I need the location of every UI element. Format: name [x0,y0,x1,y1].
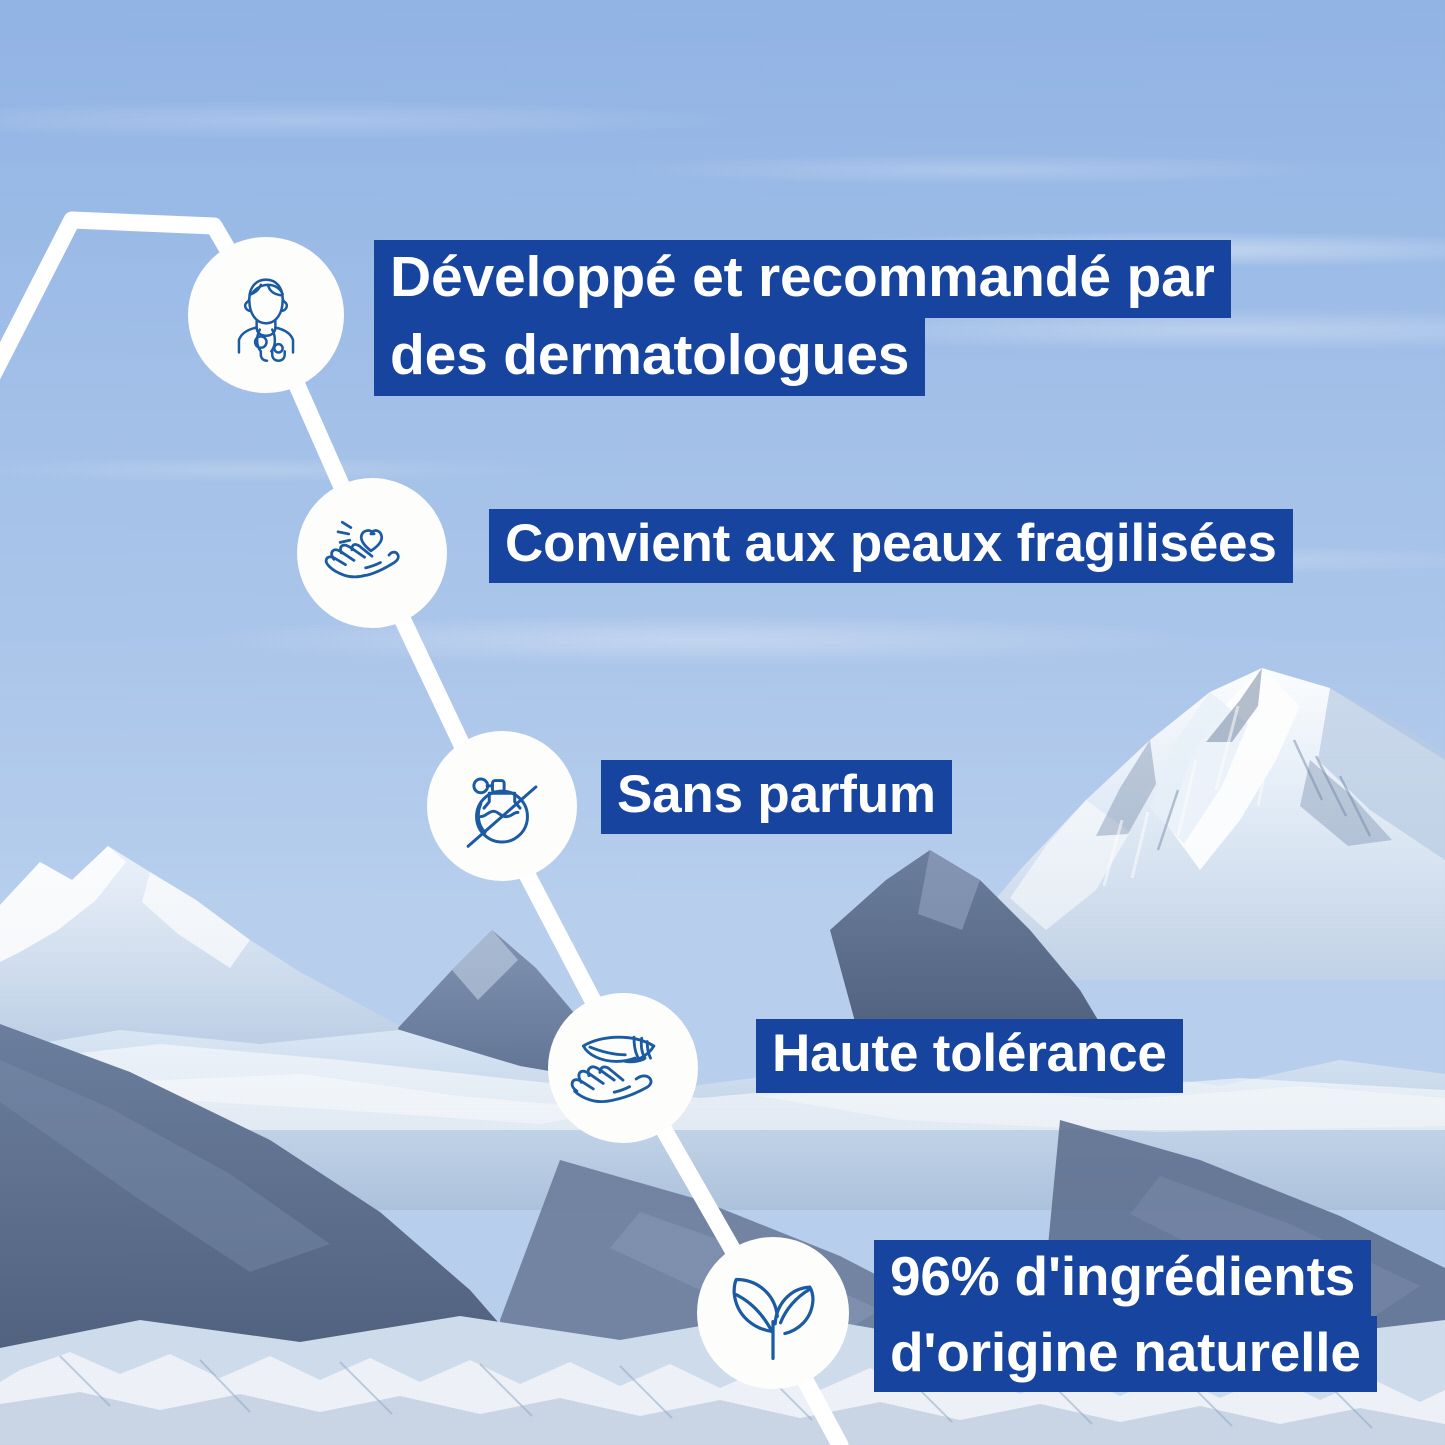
feature-banner-5-line-2: d'origine naturelle [874,1316,1377,1392]
no-perfume-bottle-icon [449,753,555,859]
hand-holding-heart-icon [319,500,425,606]
feature-icon-bubble-3 [427,731,577,881]
feature-icon-bubble-1 [188,237,344,393]
product-claims-poster: Développé et recommandé par des dermatol… [0,0,1445,1445]
feature-icon-bubble-2 [297,478,447,628]
feature-banner-5: 96% d'ingrédients d'origine naturelle [874,1240,1377,1392]
feather-over-hand-icon [568,1013,678,1123]
connector-polyline [0,0,1445,1445]
feature-banner-4: Haute tolérance [756,1019,1183,1093]
feature-banner-4-line-1: Haute tolérance [756,1019,1183,1093]
feature-banner-5-line-1: 96% d'ingrédients [874,1240,1371,1316]
feature-banner-3-line-1: Sans parfum [601,760,952,834]
feature-banner-1: Développé et recommandé par des dermatol… [374,240,1231,396]
feature-icon-bubble-5 [697,1237,849,1389]
feature-banner-1-line-1: Développé et recommandé par [374,240,1231,318]
feature-icon-bubble-4 [548,993,698,1143]
feature-banner-2-line-1: Convient aux peaux fragilisées [489,509,1293,583]
feature-banner-3: Sans parfum [601,760,952,834]
two-leaves-plant-icon [719,1259,827,1367]
feature-banner-2: Convient aux peaux fragilisées [489,509,1293,583]
feature-banner-1-line-2: des dermatologues [374,318,925,396]
doctor-with-stethoscope-icon [214,263,318,367]
